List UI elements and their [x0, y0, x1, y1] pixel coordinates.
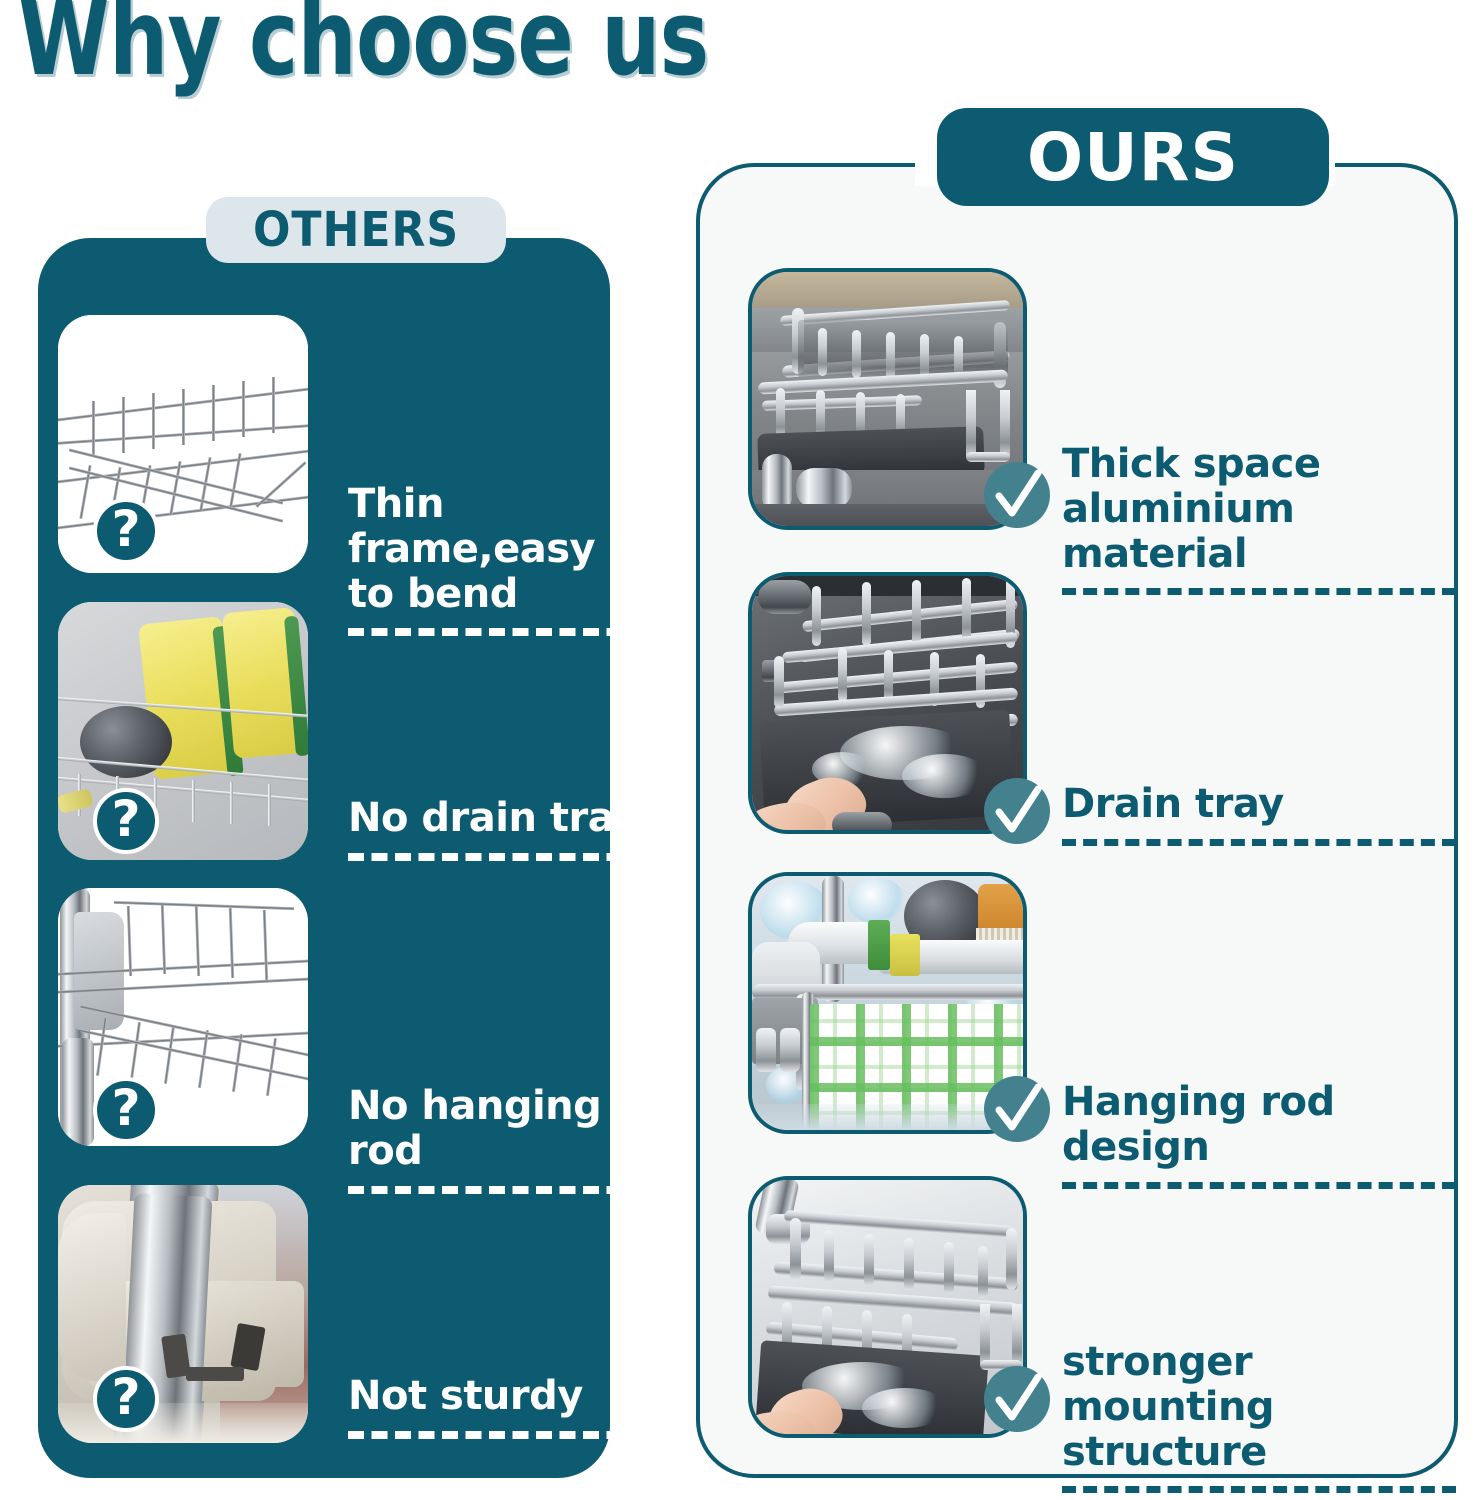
- ours-item-2-label: Drain tray: [1062, 782, 1456, 846]
- drain-tray-with-water-photo: [752, 576, 1023, 830]
- ours-item-2-check-mark-icon: [984, 778, 1050, 844]
- ours-item-1-label: Thick space aluminium material: [1062, 442, 1456, 595]
- others-badge-label: OTHERS: [253, 202, 459, 258]
- ours-item-4-label: stronger mounting structure: [1062, 1340, 1456, 1493]
- ours-item-3-label: Hanging rod design: [1062, 1080, 1456, 1189]
- others-item-1-question-mark-icon: ?: [93, 498, 159, 564]
- hanging-rod-with-towel-photo: [752, 876, 1023, 1130]
- others-item-3-label-line1: No hanging rod: [348, 1084, 646, 1174]
- ours-item-2-label-line1: Drain tray: [1062, 782, 1456, 827]
- others-item-3-label: No hanging rod: [348, 1084, 646, 1194]
- ours-badge: OURS: [937, 108, 1329, 206]
- ours-item-1-label-line1: Thick space: [1062, 442, 1456, 487]
- others-item-2-label-line1: No drain tray: [348, 796, 646, 841]
- ours-item-1-label-line2: aluminium material: [1062, 487, 1456, 577]
- ours-item-3-photo: [748, 872, 1027, 1134]
- others-item-4-question-mark-icon: ?: [93, 1366, 159, 1432]
- others-item-4-label-line1: Not sturdy: [348, 1374, 646, 1419]
- ours-item-3-label-line1: Hanging rod design: [1062, 1080, 1456, 1170]
- ours-item-1-check-mark-icon: [984, 462, 1050, 528]
- others-item-1-label-line2: to bend: [348, 572, 646, 617]
- mounting-structure-photo: [752, 1180, 1023, 1434]
- ours-item-4-label-line2: structure: [1062, 1430, 1456, 1475]
- aluminium-sink-caddy-photo: [752, 272, 1023, 526]
- ours-badge-label: OURS: [1027, 119, 1239, 196]
- others-item-3-question-mark-icon: ?: [93, 1077, 159, 1143]
- infographic-root: Why choose us OTHERS OURS: [0, 0, 1479, 1500]
- others-item-4-label: Not sturdy: [348, 1374, 646, 1439]
- ours-item-2-photo: [748, 572, 1027, 834]
- others-item-1-label-line1: Thin frame,easy: [348, 482, 646, 572]
- ours-item-4-label-line1: stronger mounting: [1062, 1340, 1456, 1430]
- others-item-2-question-mark-icon: ?: [93, 788, 159, 854]
- others-item-2-label: No drain tray: [348, 796, 646, 861]
- others-badge: OTHERS: [206, 197, 506, 263]
- others-item-1-label: Thin frame,easy to bend: [348, 482, 646, 636]
- ours-item-3-check-mark-icon: [984, 1076, 1050, 1142]
- page-title: Why choose us: [18, 0, 708, 90]
- ours-item-4-check-mark-icon: [984, 1366, 1050, 1432]
